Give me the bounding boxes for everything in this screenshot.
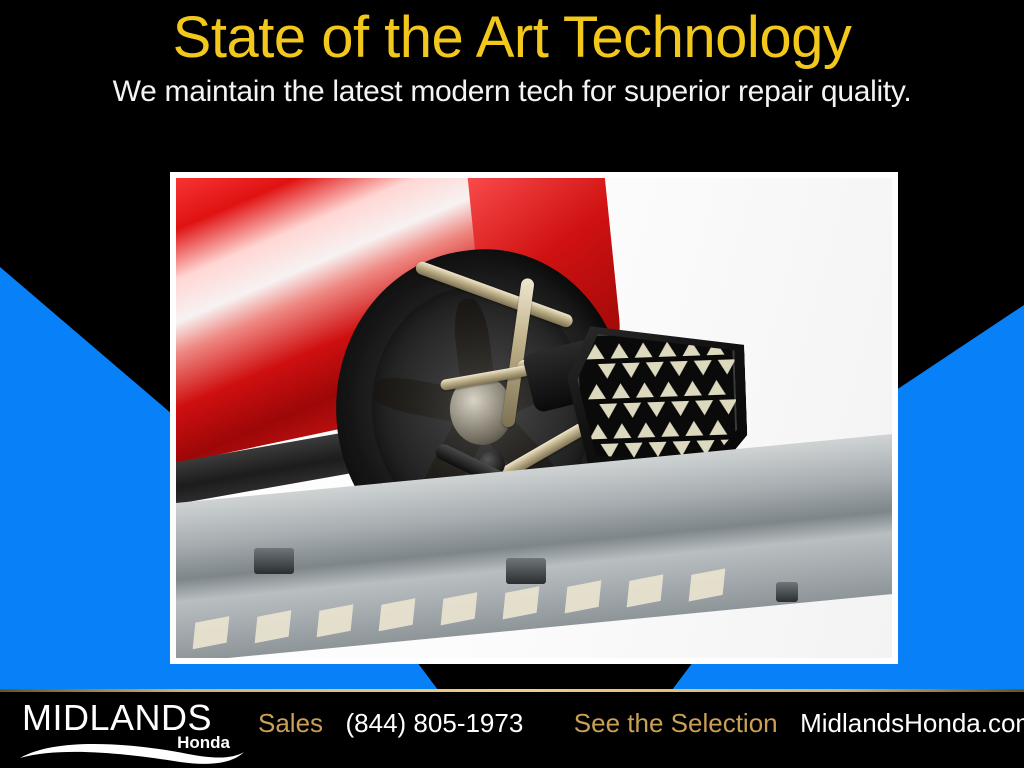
target-reflector-triangle xyxy=(647,402,666,418)
alignment-photo xyxy=(176,178,892,658)
rail-stripe xyxy=(627,574,664,607)
target-reflector-triangle xyxy=(622,363,641,379)
dealer-logo[interactable]: MIDLANDS Honda xyxy=(18,698,248,764)
target-reflector-triangle xyxy=(671,401,690,417)
advertisement-banner: State of the Art Technology We maintain … xyxy=(0,0,1024,768)
target-reflector-triangle xyxy=(670,361,689,377)
rail-stripe xyxy=(565,580,602,613)
target-reflector-triangle xyxy=(598,363,617,379)
footer-contact-line: Sales (844) 805-1973 See the Selection M… xyxy=(258,710,1024,736)
headline-block: State of the Art Technology We maintain … xyxy=(0,0,1024,150)
logo-name: MIDLANDS xyxy=(22,700,212,736)
target-reflector-triangle xyxy=(646,362,665,378)
target-reflector-triangle xyxy=(695,400,714,416)
rail-bracket-mid xyxy=(506,558,546,584)
target-reflector-triangle xyxy=(659,381,678,397)
alignment-target-pattern xyxy=(576,329,739,466)
target-reflector-triangle xyxy=(625,443,644,459)
rail-stripe xyxy=(193,616,230,649)
logo-swoosh-icon xyxy=(18,734,248,764)
sales-label: Sales xyxy=(258,708,323,738)
headline-text: State of the Art Technology xyxy=(0,0,1024,69)
target-reflector-triangle xyxy=(661,421,680,437)
rail-stripe xyxy=(317,604,354,637)
selection-label: See the Selection xyxy=(574,708,778,738)
target-reflector-triangle xyxy=(634,342,653,358)
target-reflector-triangle xyxy=(718,359,737,375)
target-reflector-triangle xyxy=(623,403,642,419)
target-reflector-triangle xyxy=(685,420,704,436)
target-reflector-triangle xyxy=(635,382,654,398)
target-reflector-triangle xyxy=(587,384,606,400)
rail-stripe xyxy=(379,598,416,631)
rail-stripe xyxy=(441,592,478,625)
rail-bracket-left xyxy=(254,548,294,574)
target-reflector-triangle xyxy=(599,403,618,419)
target-reflector-triangle xyxy=(719,399,738,415)
target-reflector-triangle xyxy=(611,383,630,399)
rail-stripe xyxy=(503,586,540,619)
target-reflector-triangle xyxy=(683,380,702,396)
target-reflector-triangle xyxy=(658,341,677,357)
rail-stripe xyxy=(255,610,292,643)
target-reflector-triangle xyxy=(707,380,726,396)
target-reflector-triangle xyxy=(694,360,713,376)
target-reflector-triangle xyxy=(637,422,656,438)
target-reflector-triangle xyxy=(709,420,728,436)
subheadline-text: We maintain the latest modern tech for s… xyxy=(0,69,1024,108)
target-reflector-triangle xyxy=(610,343,629,359)
footer-bar: MIDLANDS Honda Sales (844) 805-1973 See … xyxy=(0,692,1024,768)
sales-phone[interactable]: (844) 805-1973 xyxy=(346,708,524,738)
website-link[interactable]: MidlandsHonda.com xyxy=(800,708,1024,738)
target-reflector-triangle xyxy=(613,423,632,439)
rail-stripe xyxy=(689,568,726,601)
target-reflector-triangle xyxy=(589,424,608,440)
rail-bracket-right xyxy=(776,582,798,602)
photo-frame xyxy=(170,172,898,664)
